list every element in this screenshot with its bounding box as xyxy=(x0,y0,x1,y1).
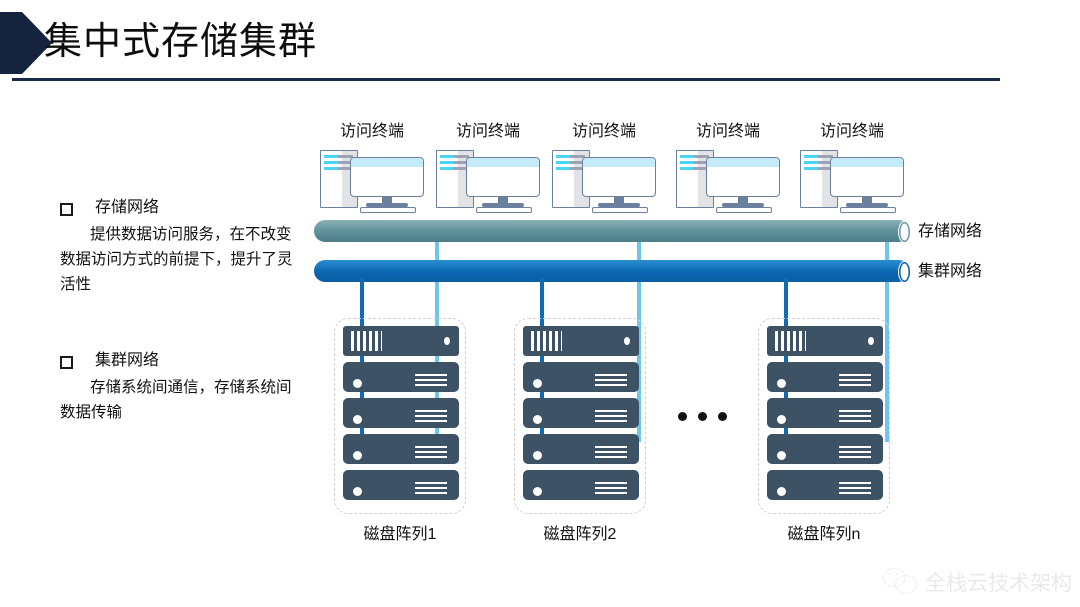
bullet-heading: 集群网络 xyxy=(95,349,159,372)
square-bullet-icon xyxy=(60,356,73,369)
access-terminal-3: 访问终端 xyxy=(546,122,662,214)
terminal-label: 访问终端 xyxy=(546,122,662,142)
status-led-icon xyxy=(533,451,542,460)
disk-unit xyxy=(523,470,639,500)
vent-bars-icon xyxy=(775,331,806,351)
cluster-network-label: 集群网络 xyxy=(918,262,982,282)
disk-unit xyxy=(343,434,459,464)
bar-end-cap xyxy=(898,261,911,283)
disk-unit xyxy=(767,398,883,428)
wechat-icon xyxy=(883,568,917,596)
disk-unit xyxy=(767,434,883,464)
status-led-icon xyxy=(533,415,542,424)
title-divider xyxy=(12,78,1000,81)
monitor-icon xyxy=(466,157,540,197)
status-led-icon xyxy=(353,379,362,388)
slide-canvas: 集中式存储集群 存储网络 提供数据访问服务，在不改变数据访问方式的前提下，提升了… xyxy=(0,0,1080,607)
disk-slot-lines-icon xyxy=(839,482,871,494)
status-led-icon xyxy=(777,451,786,460)
access-terminal-2: 访问终端 xyxy=(430,122,546,214)
disk-slot-lines-icon xyxy=(415,410,447,422)
disk-array-label: 磁盘阵列1 xyxy=(334,520,466,544)
disk-unit xyxy=(523,434,639,464)
status-led-icon xyxy=(533,487,542,496)
bullet-group-storage-network: 存储网络 提供数据访问服务，在不改变数据访问方式的前提下，提升了灵活性 xyxy=(60,196,310,297)
vent-bars-icon xyxy=(531,331,562,351)
computer-icon xyxy=(546,148,662,214)
monitor-icon xyxy=(830,157,904,197)
architecture-diagram: 访问终端 访问终端 xyxy=(300,110,1080,580)
bar-end-cap xyxy=(898,221,911,243)
square-bullet-icon xyxy=(60,203,73,216)
terminal-label: 访问终端 xyxy=(430,122,546,142)
terminal-label: 访问终端 xyxy=(670,122,786,142)
disk-unit xyxy=(343,470,459,500)
storage-network-label: 存储网络 xyxy=(918,222,982,242)
disk-slot-lines-icon xyxy=(595,482,627,494)
status-led-icon xyxy=(624,337,630,345)
disk-slot-lines-icon xyxy=(415,374,447,386)
access-terminal-4: 访问终端 xyxy=(670,122,786,214)
status-led-icon xyxy=(777,415,786,424)
bullet-heading: 存储网络 xyxy=(95,196,159,219)
disk-unit xyxy=(523,362,639,392)
disk-unit xyxy=(343,362,459,392)
monitor-icon xyxy=(582,157,656,197)
controller-unit xyxy=(523,326,639,356)
access-terminal-1: 访问终端 xyxy=(314,122,430,214)
status-led-icon xyxy=(868,337,874,345)
keyboard-icon xyxy=(840,207,896,213)
bullet-list: 存储网络 提供数据访问服务，在不改变数据访问方式的前提下，提升了灵活性 集群网络… xyxy=(60,196,310,425)
controller-unit xyxy=(767,326,883,356)
cluster-network-bar xyxy=(314,260,910,282)
disk-slot-lines-icon xyxy=(595,446,627,458)
computer-icon xyxy=(314,148,430,214)
page-title: 集中式存储集群 xyxy=(44,16,317,68)
vent-bars-icon xyxy=(351,331,382,351)
disk-unit xyxy=(523,398,639,428)
disk-array-enclosure xyxy=(334,318,466,514)
disk-array-n: 磁盘阵列n xyxy=(758,318,890,544)
storage-network-bar xyxy=(314,220,910,242)
bullet-body-text: 存储系统间通信，存储系统间数据传输 xyxy=(60,375,298,425)
keyboard-icon xyxy=(360,207,416,213)
disk-slot-lines-icon xyxy=(415,446,447,458)
bullet-body-text: 提供数据访问服务，在不改变数据访问方式的前提下，提升了灵活性 xyxy=(60,222,298,297)
keyboard-icon xyxy=(476,207,532,213)
controller-unit xyxy=(343,326,459,356)
monitor-icon xyxy=(350,157,424,197)
monitor-icon xyxy=(706,157,780,197)
access-terminal-5: 访问终端 xyxy=(794,122,910,214)
status-led-icon xyxy=(444,337,450,345)
bullet-heading-row: 集群网络 xyxy=(60,349,310,372)
disk-array-1: 磁盘阵列1 xyxy=(334,318,466,544)
disk-slot-lines-icon xyxy=(839,374,871,386)
status-led-icon xyxy=(353,487,362,496)
computer-icon xyxy=(794,148,910,214)
keyboard-icon xyxy=(716,207,772,213)
array-ellipsis xyxy=(678,412,727,421)
disk-slot-lines-icon xyxy=(839,410,871,422)
status-led-icon xyxy=(353,451,362,460)
disk-array-label: 磁盘阵列2 xyxy=(514,520,646,544)
computer-icon xyxy=(670,148,786,214)
status-led-icon xyxy=(533,379,542,388)
disk-array-2: 磁盘阵列2 xyxy=(514,318,646,544)
disk-array-enclosure xyxy=(514,318,646,514)
watermark-text: 全栈云技术架构 xyxy=(925,567,1072,597)
disk-array-label: 磁盘阵列n xyxy=(758,520,890,544)
disk-slot-lines-icon xyxy=(839,446,871,458)
bullet-group-cluster-network: 集群网络 存储系统间通信，存储系统间数据传输 xyxy=(60,349,310,425)
disk-slot-lines-icon xyxy=(595,374,627,386)
keyboard-icon xyxy=(592,207,648,213)
terminal-label: 访问终端 xyxy=(314,122,430,142)
computer-icon xyxy=(430,148,546,214)
disk-slot-lines-icon xyxy=(595,410,627,422)
disk-unit xyxy=(767,470,883,500)
disk-unit xyxy=(767,362,883,392)
terminal-label: 访问终端 xyxy=(794,122,910,142)
disk-unit xyxy=(343,398,459,428)
bullet-heading-row: 存储网络 xyxy=(60,196,310,219)
disk-slot-lines-icon xyxy=(415,482,447,494)
slide-header: 集中式存储集群 xyxy=(0,0,1080,88)
status-led-icon xyxy=(777,379,786,388)
disk-array-enclosure xyxy=(758,318,890,514)
watermark: 全栈云技术架构 xyxy=(883,567,1072,597)
status-led-icon xyxy=(777,487,786,496)
status-led-icon xyxy=(353,415,362,424)
